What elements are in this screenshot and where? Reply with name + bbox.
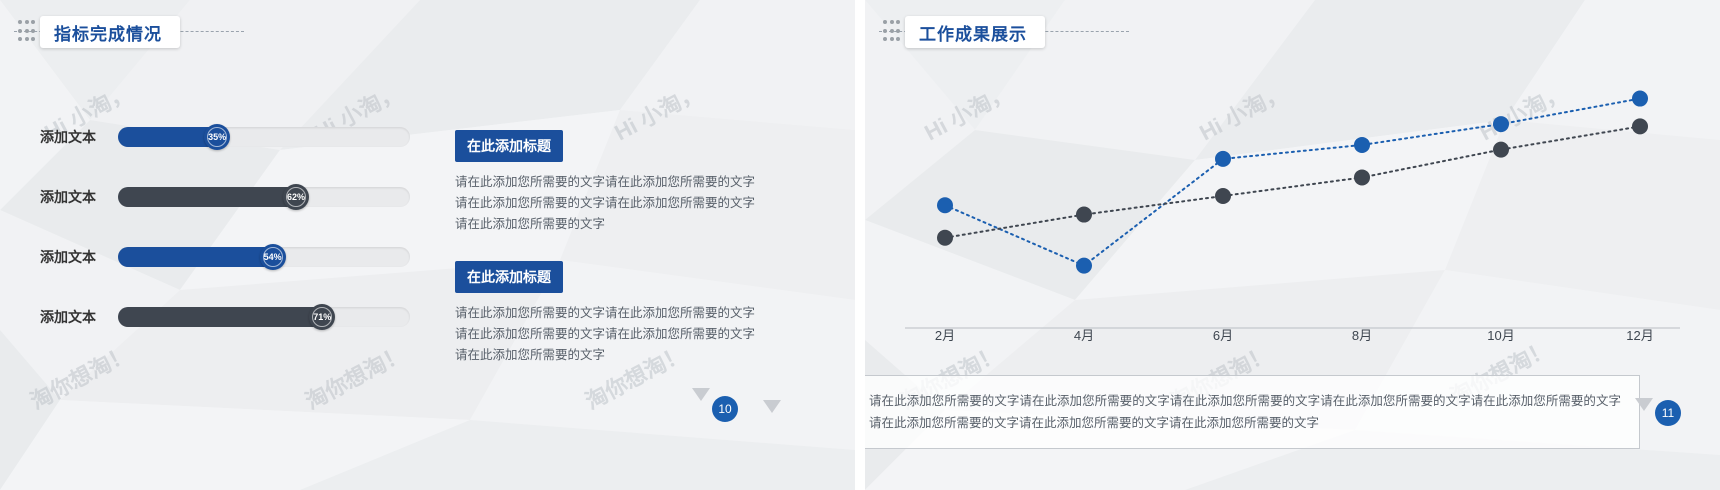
chart-x-tick-label: 12月	[1610, 325, 1670, 344]
right-section-plate: 工作成果展示	[905, 16, 1045, 48]
line-chart	[885, 60, 1700, 330]
progress-bar-list: 添加文本 35% 添加文本 62%	[40, 125, 410, 365]
progress-track[interactable]: 71%	[118, 307, 410, 327]
progress-fill	[118, 307, 325, 327]
chart-data-point	[937, 230, 953, 246]
progress-track[interactable]: 62%	[118, 187, 410, 207]
chart-x-tick-label: 8月	[1332, 325, 1392, 344]
note-box: 请在此添加您所需要的文字请在此添加您所需要的文字请在此添加您所需要的文字请在此添…	[865, 375, 1640, 449]
chart-data-point	[1076, 207, 1092, 223]
chart-x-tick-label: 6月	[1193, 325, 1253, 344]
chart-series-line	[945, 99, 1640, 266]
slide-left: 指标完成情况 Hi 小淘， 淘你想淘！ Hi 小淘， 淘你想淘！ Hi 小淘， …	[0, 0, 855, 490]
slides-stage: 指标完成情况 Hi 小淘， 淘你想淘！ Hi 小淘， 淘你想淘！ Hi 小淘， …	[0, 0, 1720, 490]
text-block-body: 请在此添加您所需要的文字请在此添加您所需要的文字请在此添加您所需要的文字请在此添…	[455, 303, 755, 366]
chart-data-point	[937, 197, 953, 213]
progress-row: 添加文本 62%	[40, 185, 410, 209]
chart-data-point	[1632, 91, 1648, 107]
chart-data-point	[1076, 258, 1092, 274]
left-section-plate: 指标完成情况	[40, 16, 180, 48]
arrow-marker	[1635, 398, 1653, 411]
progress-fill	[118, 247, 276, 267]
knob-ring	[207, 127, 227, 147]
chart-series-line	[945, 126, 1640, 237]
chart-data-point	[1493, 116, 1509, 132]
right-section-title: 工作成果展示	[919, 20, 1027, 45]
progress-label: 添加文本	[40, 307, 118, 327]
progress-label: 添加文本	[40, 127, 118, 147]
chart-data-point	[1215, 188, 1231, 204]
progress-label: 添加文本	[40, 247, 118, 267]
chart-x-tick-label: 2月	[915, 325, 975, 344]
text-block-title: 在此添加标题	[455, 130, 563, 162]
progress-label: 添加文本	[40, 187, 118, 207]
left-section-title: 指标完成情况	[54, 20, 162, 45]
knob-ring	[263, 247, 283, 267]
page-badge: 11	[1655, 400, 1681, 426]
knob-ring	[286, 187, 306, 207]
text-block-title: 在此添加标题	[455, 261, 563, 293]
arrow-marker	[692, 388, 710, 401]
left-section-header: 指标完成情况	[14, 16, 180, 48]
chart-data-point	[1632, 118, 1648, 134]
progress-knob[interactable]: 71%	[309, 304, 335, 330]
progress-track[interactable]: 54%	[118, 247, 410, 267]
slide-right: 工作成果展示 Hi 小淘， 淘你想淘！ Hi 小淘， 淘你想淘！ Hi 小淘， …	[865, 0, 1720, 490]
chart-data-point	[1493, 142, 1509, 158]
page-badge: 10	[712, 396, 738, 422]
slide-divider	[855, 0, 865, 490]
progress-fill	[118, 187, 299, 207]
progress-knob[interactable]: 54%	[260, 244, 286, 270]
chart-data-point	[1354, 169, 1370, 185]
note-text: 请在此添加您所需要的文字请在此添加您所需要的文字请在此添加您所需要的文字请在此添…	[869, 390, 1621, 434]
knob-ring	[312, 307, 332, 327]
chart-x-tick-label: 10月	[1471, 325, 1531, 344]
progress-track[interactable]: 35%	[118, 127, 410, 147]
text-block-body: 请在此添加您所需要的文字请在此添加您所需要的文字请在此添加您所需要的文字请在此添…	[455, 172, 755, 235]
progress-row: 添加文本 54%	[40, 245, 410, 269]
text-block-list: 在此添加标题 请在此添加您所需要的文字请在此添加您所需要的文字请在此添加您所需要…	[455, 130, 755, 392]
chart-x-tick-label: 4月	[1054, 325, 1114, 344]
progress-knob[interactable]: 62%	[283, 184, 309, 210]
right-section-header: 工作成果展示	[879, 16, 1045, 48]
progress-row: 添加文本 35%	[40, 125, 410, 149]
progress-row: 添加文本 71%	[40, 305, 410, 329]
progress-knob[interactable]: 35%	[204, 124, 230, 150]
arrow-marker	[763, 400, 781, 413]
chart-data-point	[1215, 151, 1231, 167]
chart-x-axis-labels: 2月4月6月8月10月12月	[885, 325, 1700, 345]
dots-icon	[879, 17, 905, 47]
chart-data-point	[1354, 137, 1370, 153]
dots-icon	[14, 17, 40, 47]
